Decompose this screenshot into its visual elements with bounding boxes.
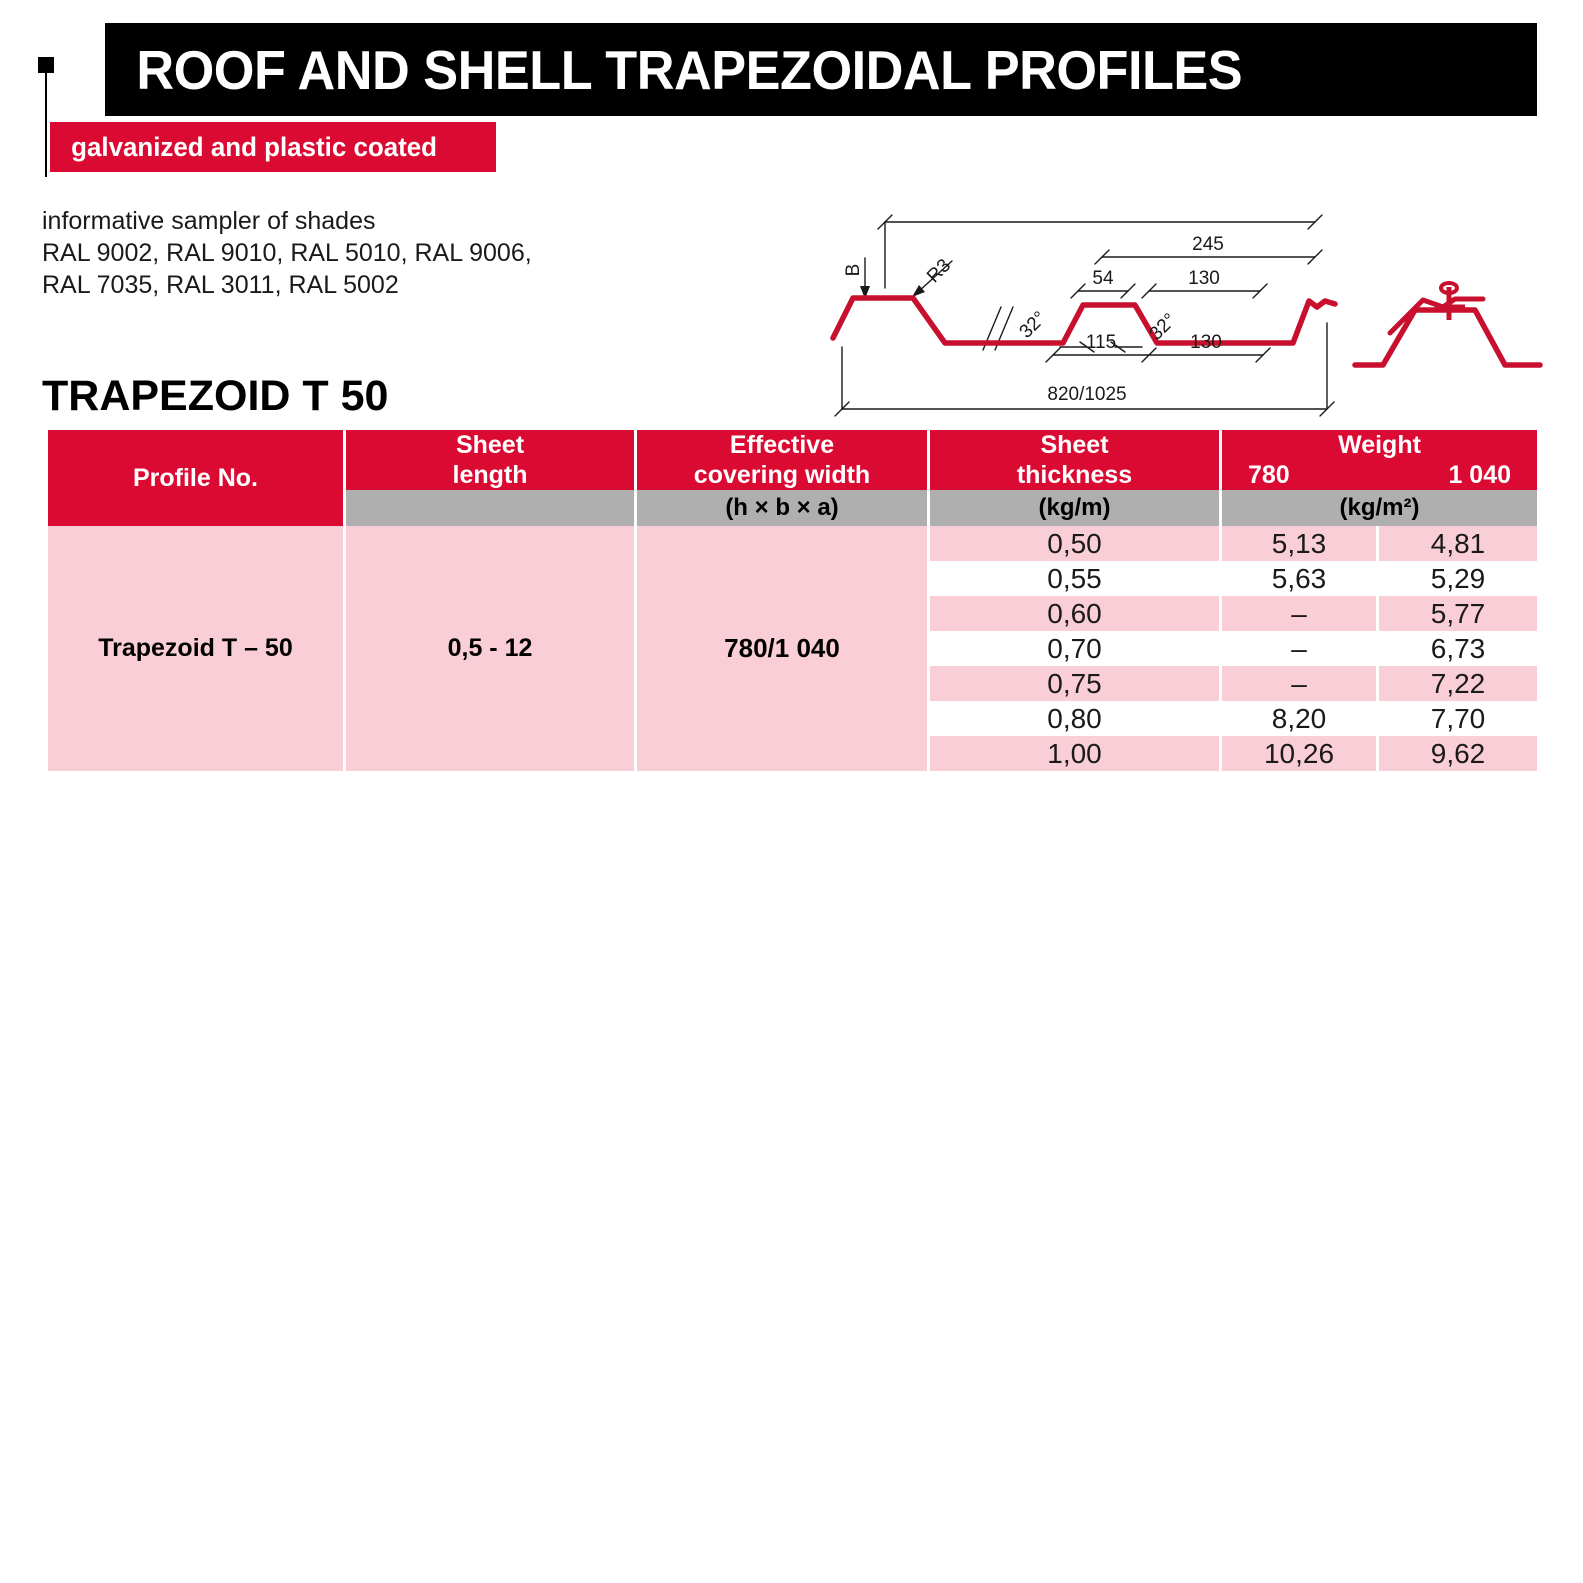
th-thickness-line2: thickness bbox=[1017, 461, 1132, 489]
cell-weight-1040: 7,22 bbox=[1379, 666, 1537, 701]
cell-weight-1040: 5,77 bbox=[1379, 596, 1537, 631]
th-sheet-length-line2: length bbox=[453, 461, 528, 489]
th-sheet-length-line1: Sheet bbox=[456, 431, 524, 459]
cell-weight-780: 10,26 bbox=[1222, 736, 1379, 771]
profile-spec-table: Profile No. Sheet length Effective cover… bbox=[48, 430, 1537, 771]
cell-weight-1040: 6,73 bbox=[1379, 631, 1537, 666]
dim-115-label: 115 bbox=[1086, 332, 1116, 353]
th-sheet-thickness: Sheet thickness bbox=[930, 430, 1222, 490]
cell-weight-1040: 9,62 bbox=[1379, 736, 1537, 771]
th-weight-label: Weight bbox=[1222, 430, 1537, 460]
corner-rule-line bbox=[45, 73, 47, 177]
cell-thickness: 0,70 bbox=[930, 631, 1222, 666]
table-header-row: Profile No. Sheet length Effective cover… bbox=[48, 430, 1537, 490]
th-weight-unit: (kg/m²) bbox=[1222, 490, 1537, 526]
cell-weight-780: 5,63 bbox=[1222, 561, 1379, 596]
cell-covering-width: 780/1 040 bbox=[637, 526, 930, 771]
page-title: ROOF AND SHELL TRAPEZOIDAL PROFILES bbox=[105, 38, 1242, 102]
th-weight-780: 780 bbox=[1248, 460, 1290, 490]
page-subtitle: galvanized and plastic coated bbox=[50, 132, 437, 163]
profile-outline bbox=[833, 298, 1335, 343]
th-covering-unit: (h × b × a) bbox=[637, 490, 930, 526]
corner-square-marker bbox=[38, 57, 54, 73]
cell-thickness: 0,60 bbox=[930, 596, 1222, 631]
shade-note-line-2: RAL 9002, RAL 9010, RAL 5010, RAL 9006, bbox=[42, 237, 602, 269]
overlap-detail-drawing bbox=[1355, 283, 1540, 365]
cell-weight-780: 5,13 bbox=[1222, 526, 1379, 561]
th-covering-line1: Effective bbox=[730, 431, 834, 459]
cell-weight-1040: 5,29 bbox=[1379, 561, 1537, 596]
th-covering-line2: covering width bbox=[694, 461, 870, 489]
title-bar: ROOF AND SHELL TRAPEZOIDAL PROFILES bbox=[105, 23, 1537, 116]
cell-thickness: 0,80 bbox=[930, 701, 1222, 736]
cell-thickness: 0,50 bbox=[930, 526, 1222, 561]
cell-sheet-length: 0,5 - 12 bbox=[346, 526, 637, 771]
label-b: B bbox=[843, 264, 864, 277]
shade-note-line-3: RAL 7035, RAL 3011, RAL 5002 bbox=[42, 269, 602, 301]
dim-130-bottom-label: 130 bbox=[1190, 332, 1222, 353]
cell-weight-780: – bbox=[1222, 596, 1379, 631]
cell-thickness: 0,75 bbox=[930, 666, 1222, 701]
table-row: Trapezoid T – 50 0,5 - 12 780/1 040 0,50… bbox=[48, 526, 1537, 561]
th-covering-width: Effective covering width bbox=[637, 430, 930, 490]
dim-245-label: 245 bbox=[1192, 234, 1224, 255]
th-profile-no: Profile No. bbox=[48, 430, 346, 526]
th-thickness-line1: Sheet bbox=[1040, 431, 1108, 459]
shade-sampler-note: informative sampler of shades RAL 9002, … bbox=[42, 205, 602, 301]
cell-weight-1040: 4,81 bbox=[1379, 526, 1537, 561]
cell-weight-780: – bbox=[1222, 631, 1379, 666]
th-sheet-length-unit bbox=[346, 490, 637, 526]
shade-note-line-1: informative sampler of shades bbox=[42, 205, 602, 237]
cell-weight-780: 8,20 bbox=[1222, 701, 1379, 736]
cell-weight-780: – bbox=[1222, 666, 1379, 701]
dim-54-label: 54 bbox=[1092, 268, 1114, 289]
cell-profile-no: Trapezoid T – 50 bbox=[48, 526, 346, 771]
profile-cross-section-drawing: 245 54 130 115 130 820/1025 B R3 32° 32° bbox=[815, 195, 1545, 420]
dim-total-label: 820/1025 bbox=[1047, 384, 1126, 405]
th-weight: Weight 780 1 040 bbox=[1222, 430, 1537, 490]
subtitle-bar: galvanized and plastic coated bbox=[50, 122, 496, 172]
th-weight-1040: 1 040 bbox=[1448, 460, 1511, 490]
page-section-title: TRAPEZOID T 50 bbox=[42, 372, 388, 421]
cell-weight-1040: 7,70 bbox=[1379, 701, 1537, 736]
dim-130-top-label: 130 bbox=[1188, 268, 1220, 289]
cell-thickness: 0,55 bbox=[930, 561, 1222, 596]
cell-thickness: 1,00 bbox=[930, 736, 1222, 771]
angle-right-label: 32° bbox=[1146, 310, 1181, 345]
th-thickness-unit: (kg/m) bbox=[930, 490, 1222, 526]
page-header: ROOF AND SHELL TRAPEZOIDAL PROFILES galv… bbox=[0, 0, 1583, 190]
angle-left-label: 32° bbox=[1016, 308, 1051, 343]
th-sheet-length: Sheet length bbox=[346, 430, 637, 490]
